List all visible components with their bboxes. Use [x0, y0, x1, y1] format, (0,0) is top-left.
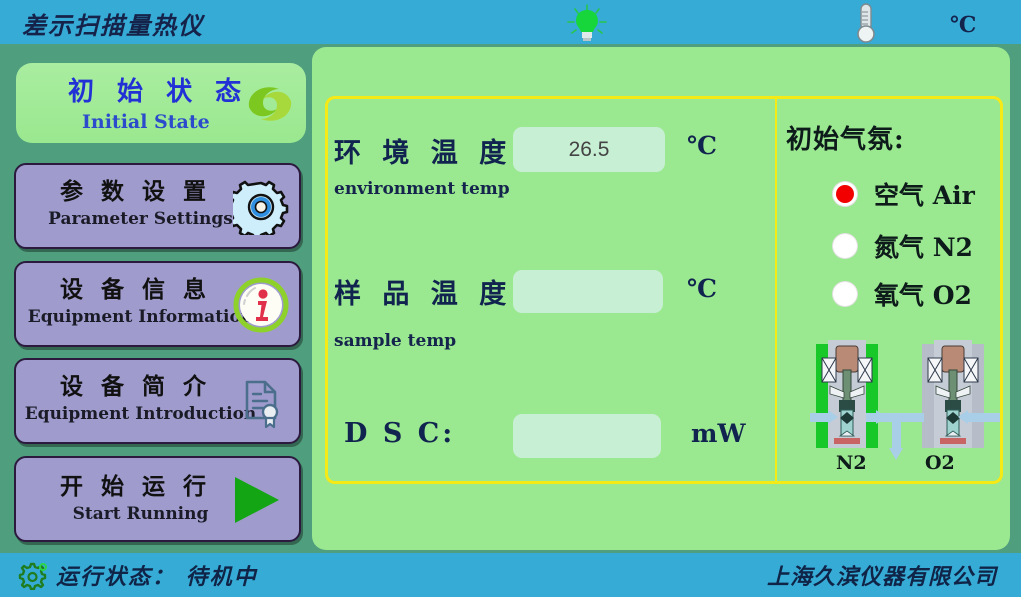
dsc-label: D S C: [344, 418, 455, 449]
sidebar-item-start-running[interactable]: 开 始 运 行 Start Running [14, 456, 301, 542]
status-bar: 运行状态： 待机中 上海久滨仪器有限公司 [0, 553, 1021, 597]
environment-temp-label: 环 境 温 度: [334, 131, 528, 170]
app-title: 差示扫描量热仪 [22, 6, 204, 41]
sample-temp-unit: ℃ [687, 274, 717, 303]
environment-temp-value: 26.5 [513, 138, 665, 162]
play-triangle-icon [227, 474, 283, 526]
environment-temp-input[interactable]: 26.5 [513, 127, 665, 172]
dsc-unit: mW [691, 419, 746, 448]
radio-label-air: 空气 Air [874, 176, 975, 212]
environment-temp-unit: ℃ [687, 131, 717, 160]
valve-caption-o2: O2 [925, 452, 955, 474]
sample-temp-input[interactable] [513, 270, 663, 313]
valve-caption-n2: N2 [836, 452, 867, 474]
application-root: 差示扫描量热仪 ℃ [0, 0, 1021, 597]
radio-label-oxygen: 氧气 O2 [874, 276, 972, 312]
panel-divider [775, 99, 777, 481]
radio-dot-air[interactable] [832, 181, 858, 207]
atmosphere-title: 初始气氛: [786, 119, 905, 156]
run-state-text: 运行状态： 待机中 [56, 559, 258, 591]
lightbulb-icon [565, 4, 609, 42]
info-circle-icon [233, 277, 289, 333]
sample-temp-sublabel: sample temp [334, 331, 456, 351]
state-card: 初 始 状 态 Initial State [16, 63, 306, 143]
title-bar: 差示扫描量热仪 ℃ [0, 0, 1021, 44]
company-name: 上海久滨仪器有限公司 [767, 559, 997, 591]
thermometer-icon [848, 2, 884, 44]
dsc-input[interactable] [513, 414, 661, 458]
sample-temp-label: 样 品 温 度: [334, 272, 528, 311]
temperature-unit-label: ℃ [950, 12, 976, 38]
state-card-cn: 初 始 状 态 [68, 71, 248, 108]
sidebar-item-equipment-information[interactable]: 设 备 信 息 Equipment Information [14, 261, 301, 347]
certificate-document-icon [233, 374, 289, 430]
state-card-en: Initial State [82, 111, 210, 133]
radio-dot-nitrogen[interactable] [832, 233, 858, 259]
sidebar-item-equipment-introduction[interactable]: 设 备 简 介 Equipment Introduction [14, 358, 301, 444]
gear-icon [18, 562, 48, 590]
sidebar-item-parameter-settings[interactable]: 参 数 设 置 Parameter Settings [14, 163, 301, 249]
radio-label-nitrogen: 氮气 N2 [874, 228, 973, 264]
environment-temp-sublabel: environment temp [334, 179, 510, 199]
gear-icon [233, 179, 289, 235]
radio-dot-oxygen[interactable] [832, 281, 858, 307]
swirl-logo-icon [241, 77, 297, 131]
